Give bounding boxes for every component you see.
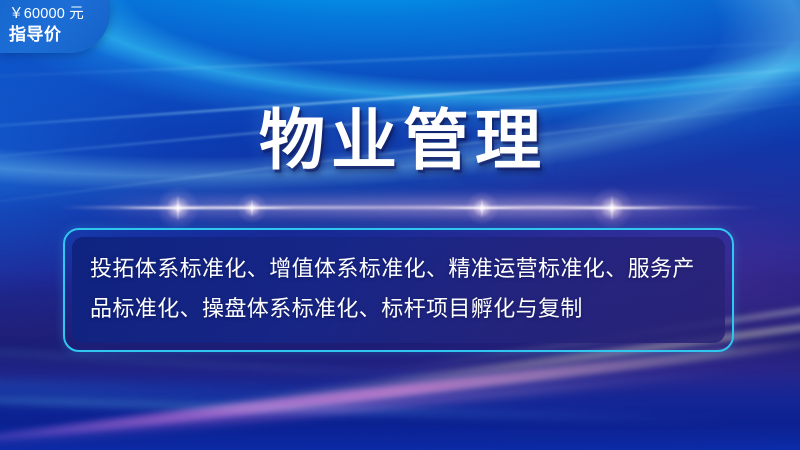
page-title-text: 物业管理 xyxy=(253,104,547,178)
price-badge: ￥60000 元 指导价 xyxy=(0,0,110,53)
poster-canvas: ￥60000 元 指导价 物业管理 投拓体系标准化、增值体系标准化、精准运营标准… xyxy=(0,0,800,450)
description-text: 投拓体系标准化、增值体系标准化、精准运营标准化、服务产品标准化、操盘体系标准化、… xyxy=(90,250,707,330)
price-badge-label: 指导价 xyxy=(9,24,110,46)
description-panel-inner: 投拓体系标准化、增值体系标准化、精准运营标准化、服务产品标准化、操盘体系标准化、… xyxy=(72,237,725,343)
price-badge-amount: ￥60000 元 xyxy=(9,4,110,24)
background-hairline-4 xyxy=(0,38,800,81)
page-title: 物业管理 xyxy=(0,104,800,178)
sparkle-icon-2 xyxy=(229,185,275,231)
description-panel: 投拓体系标准化、增值体系标准化、精准运营标准化、服务产品标准化、操盘体系标准化、… xyxy=(63,228,734,352)
sparkle-icon-3 xyxy=(457,183,507,233)
